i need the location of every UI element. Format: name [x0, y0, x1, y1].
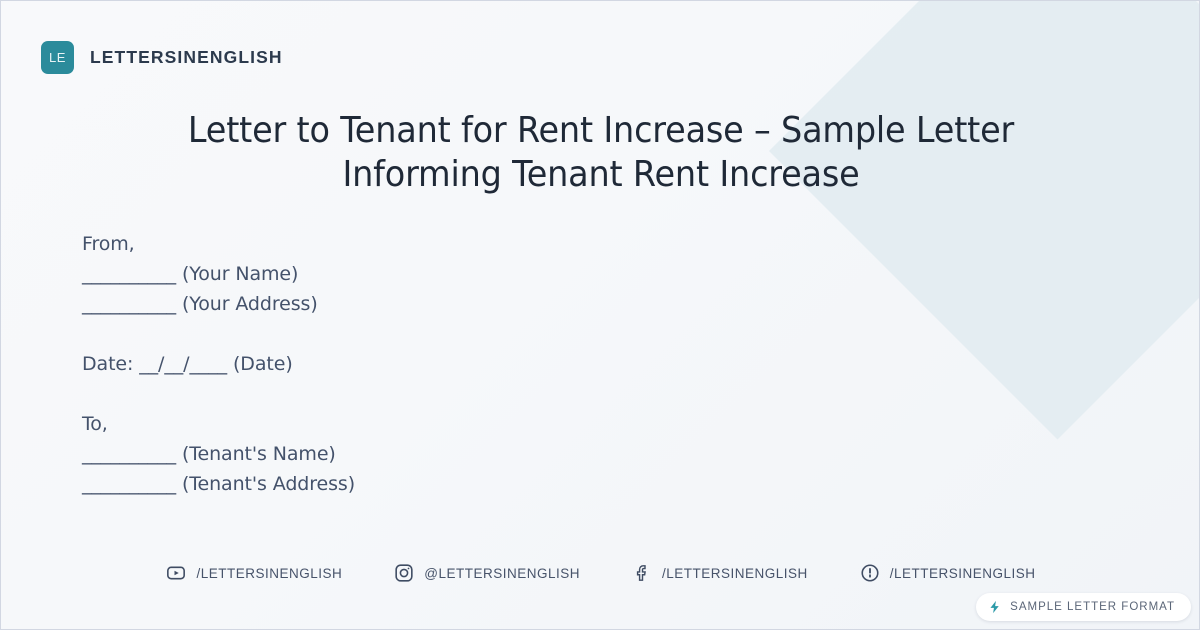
social-link-pinterest[interactable]: /LETTERSINENGLISH	[860, 563, 1036, 583]
instagram-icon	[394, 563, 414, 583]
date-line: Date: __/__/____ (Date)	[82, 349, 355, 379]
social-link-youtube[interactable]: /LETTERSINENGLISH	[166, 563, 342, 583]
from-name-line: __________ (Your Name)	[82, 259, 355, 289]
to-heading: To,	[82, 409, 355, 439]
pinterest-icon	[860, 563, 880, 583]
page-canvas: LE LETTERSINENGLISH Letter to Tenant for…	[0, 0, 1200, 630]
lightning-bolt-icon	[988, 600, 1002, 614]
social-label-facebook: /LETTERSINENGLISH	[662, 566, 808, 581]
social-link-facebook[interactable]: /LETTERSINENGLISH	[632, 563, 808, 583]
footer-social-row: /LETTERSINENGLISH @LETTERSINENGLISH /LET…	[1, 563, 1200, 583]
social-label-youtube: /LETTERSINENGLISH	[196, 566, 342, 581]
to-name-line: __________ (Tenant's Name)	[82, 439, 355, 469]
decorative-diamond-shape	[769, 0, 1200, 439]
from-block: From, __________ (Your Name) __________ …	[82, 229, 355, 319]
youtube-icon	[166, 563, 186, 583]
sample-letter-format-label: SAMPLE LETTER FORMAT	[1010, 601, 1175, 613]
letter-body: From, __________ (Your Name) __________ …	[82, 229, 355, 499]
brand-logo[interactable]: LE LETTERSINENGLISH	[41, 41, 283, 74]
social-link-instagram[interactable]: @LETTERSINENGLISH	[394, 563, 580, 583]
facebook-icon	[632, 563, 652, 583]
social-label-instagram: @LETTERSINENGLISH	[424, 566, 580, 581]
page-title: Letter to Tenant for Rent Increase – Sam…	[136, 109, 1066, 197]
to-address-line: __________ (Tenant's Address)	[82, 469, 355, 499]
from-address-line: __________ (Your Address)	[82, 289, 355, 319]
social-label-pinterest: /LETTERSINENGLISH	[890, 566, 1036, 581]
brand-name-label: LETTERSINENGLISH	[90, 47, 283, 68]
brand-badge-icon: LE	[41, 41, 74, 74]
sample-letter-format-badge[interactable]: SAMPLE LETTER FORMAT	[976, 593, 1191, 621]
date-block: Date: __/__/____ (Date)	[82, 349, 355, 379]
from-heading: From,	[82, 229, 355, 259]
to-block: To, __________ (Tenant's Name) _________…	[82, 409, 355, 499]
